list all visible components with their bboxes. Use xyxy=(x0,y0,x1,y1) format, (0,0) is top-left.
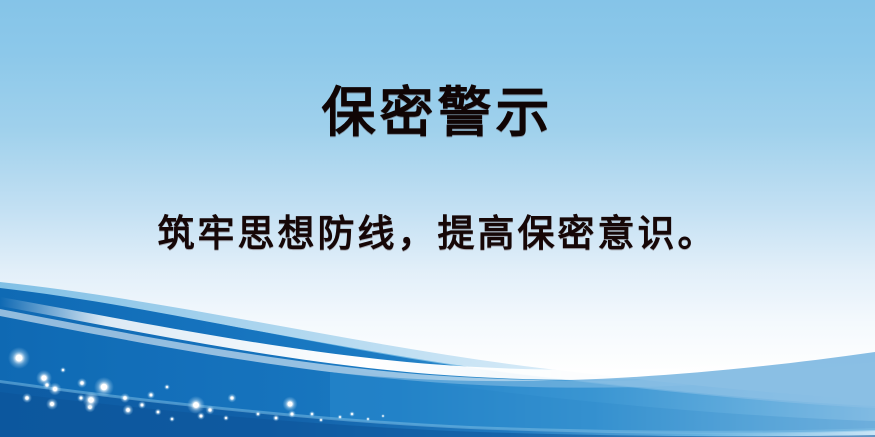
wave-background-artwork xyxy=(0,0,875,437)
secrecy-warning-poster: 保密警示 筑牢思想防线，提高保密意识。 xyxy=(0,0,875,437)
